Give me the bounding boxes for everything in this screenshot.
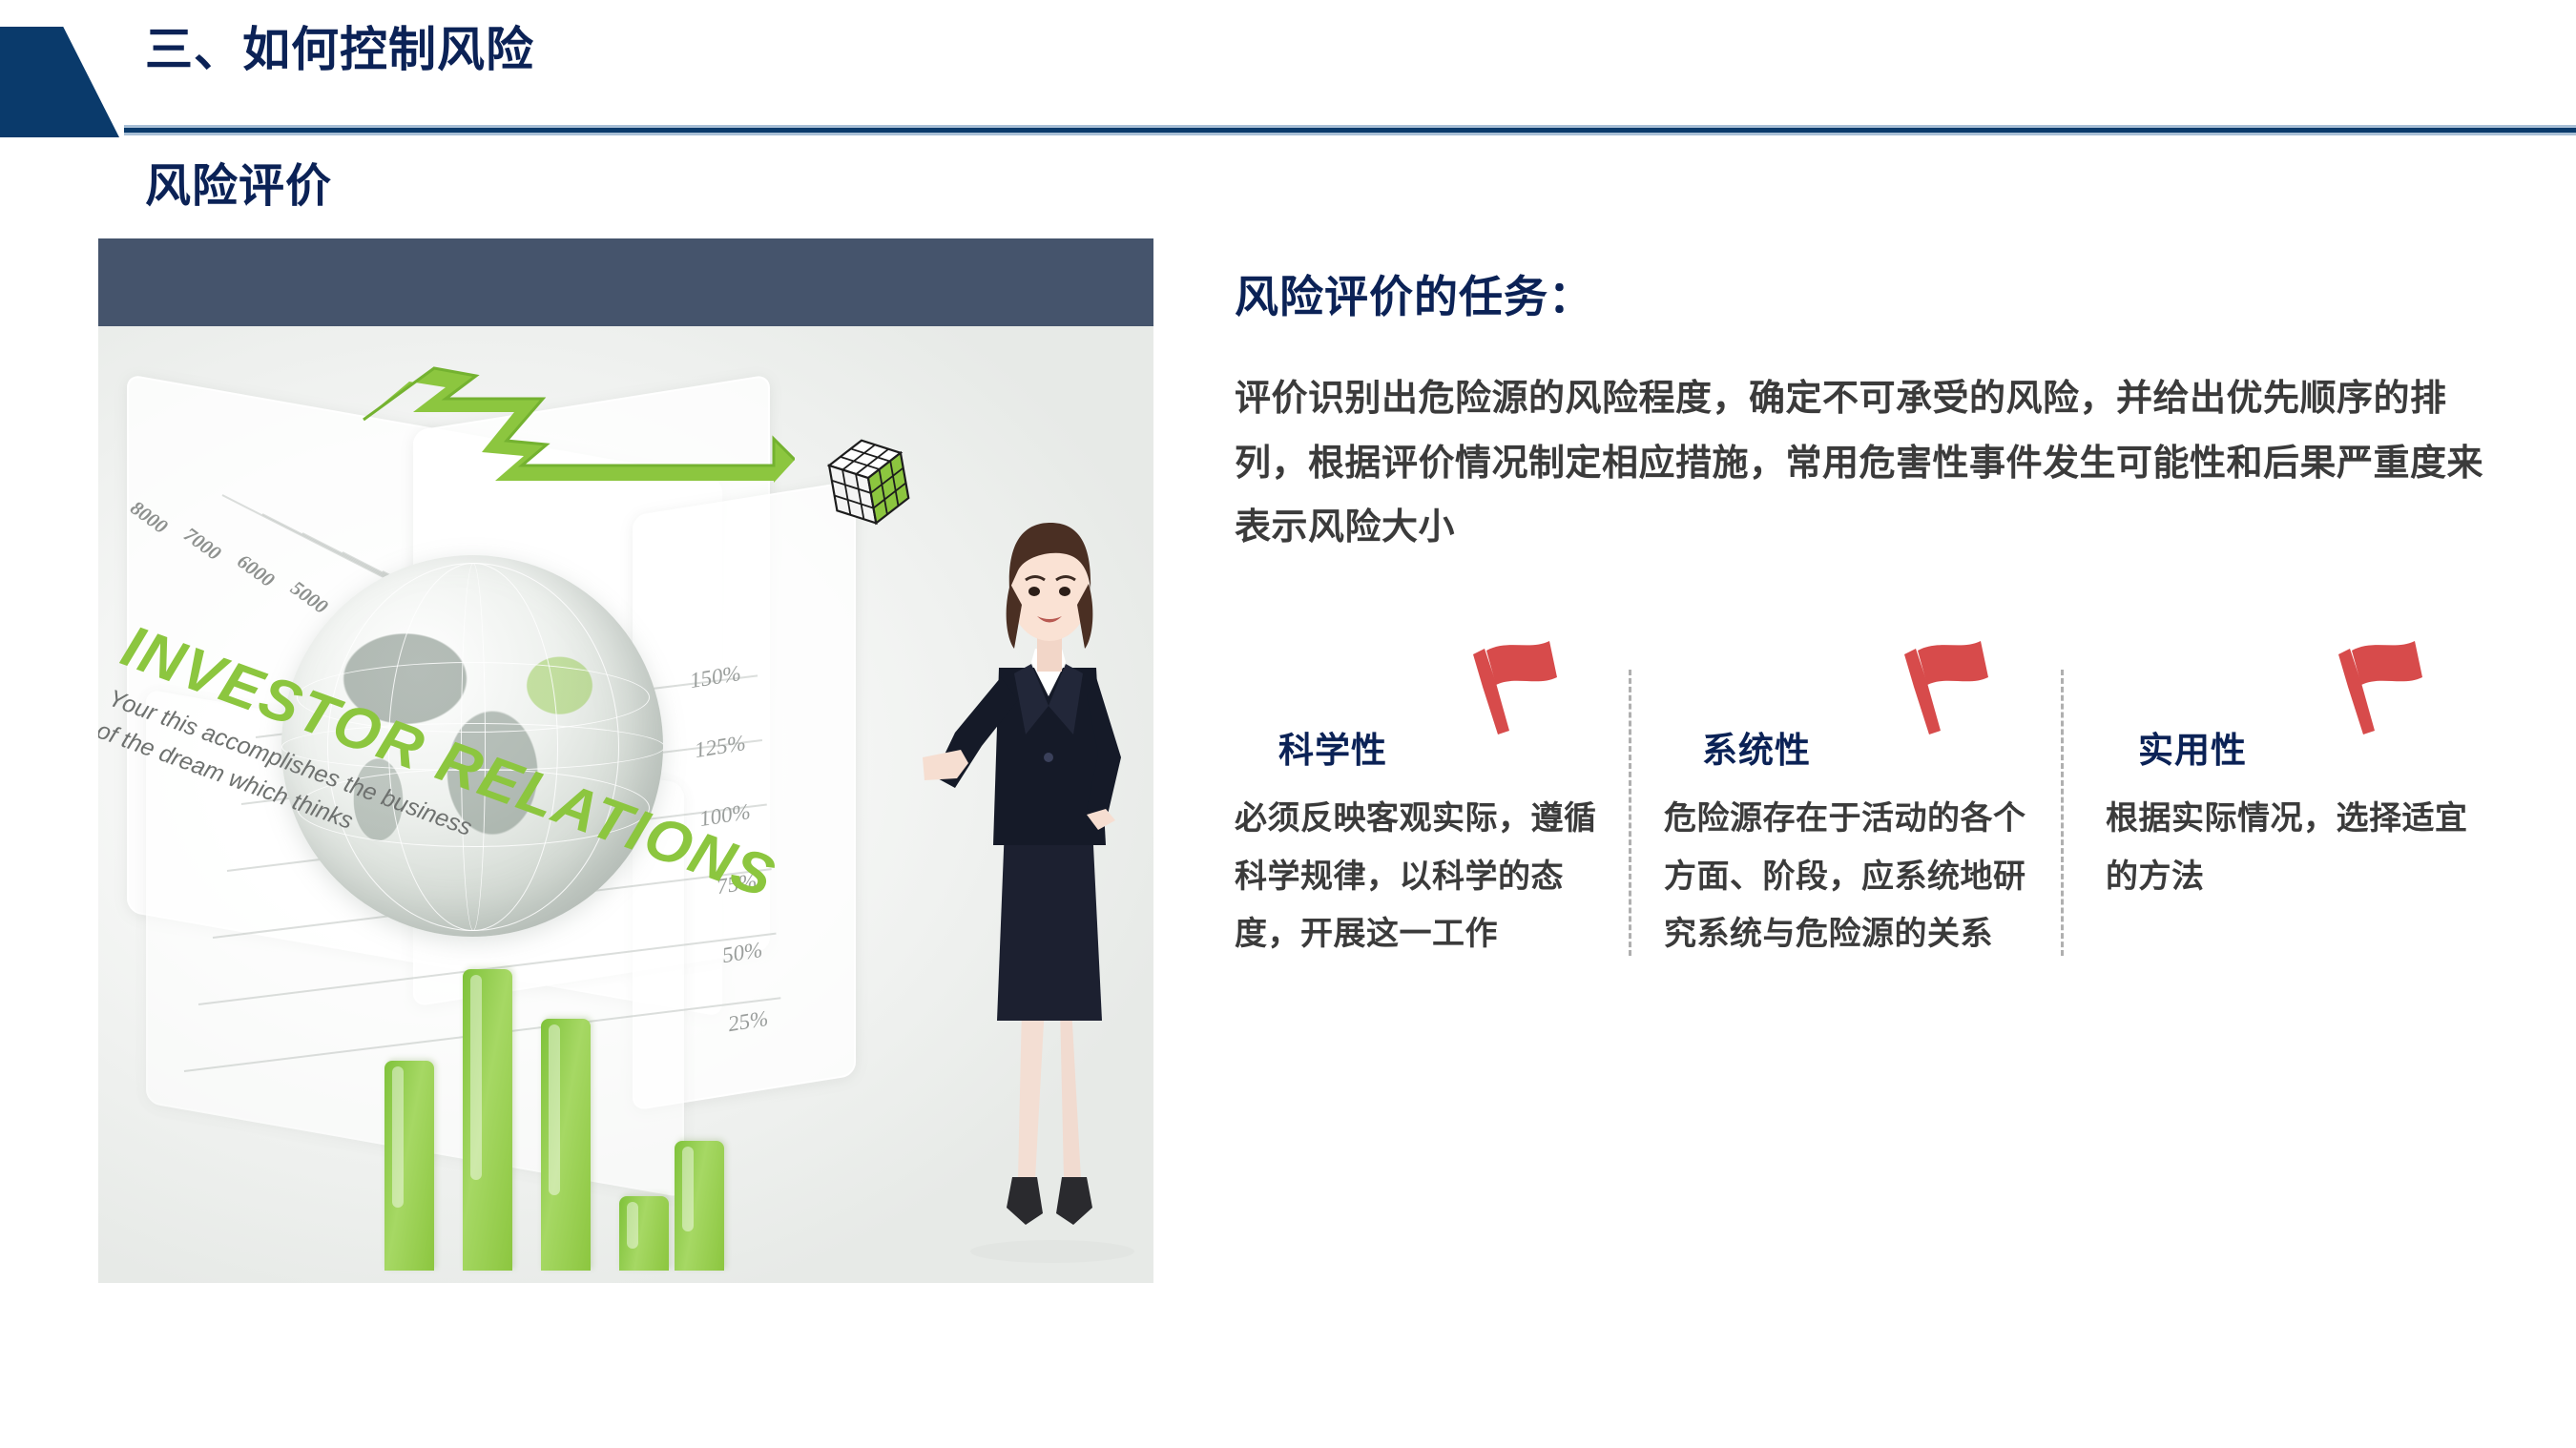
- bar: [463, 969, 512, 1271]
- principles-columns: 科学性 必须反映客观实际，遵循科学规律，以科学的态度，开展这一工作 系统性 危险…: [1235, 630, 2523, 1126]
- bar: [675, 1141, 724, 1271]
- globe-graphic: [281, 555, 663, 937]
- task-paragraph: 评价识别出危险源的风险程度，确定不可承受的风险，并给出优先顺序的排列，根据评价情…: [1235, 367, 2494, 561]
- bar: [541, 1019, 591, 1271]
- task-heading: 风险评价的任务：: [1235, 262, 1593, 325]
- bar: [384, 1061, 434, 1271]
- illustration-top-bar: [98, 238, 1153, 326]
- column-divider-1: [1629, 670, 1631, 956]
- principle-body: 根据实际情况，选择适宜的方法: [2106, 790, 2478, 905]
- illustration-stage: 8000 7000 6000 5000 4000 3000 2000 1000 …: [98, 326, 1153, 1283]
- column-divider-2: [2061, 670, 2064, 956]
- red-flag-icon: [1471, 637, 1559, 742]
- illustration-panel: 8000 7000 6000 5000 4000 3000 2000 1000 …: [98, 238, 1153, 1283]
- page-title: 三、如何控制风险: [145, 21, 534, 78]
- header-divider-rule: [124, 125, 2576, 135]
- principle-body: 危险源存在于活动的各个方面、阶段，应系统地研究系统与危险源的关系: [1664, 790, 2036, 963]
- bar: [619, 1196, 669, 1271]
- principle-body: 必须反映客观实际，遵循科学规律，以科学的态度，开展这一工作: [1235, 790, 1607, 963]
- header-accent-shape: [0, 27, 119, 137]
- growth-arrow-icon: [346, 364, 795, 498]
- principle-title: 科学性: [1278, 721, 1387, 773]
- businesswoman-figure: [919, 471, 1153, 1263]
- rubiks-cube-icon: [818, 429, 921, 538]
- principle-title: 实用性: [2138, 721, 2247, 773]
- page-subtitle: 风险评价: [145, 148, 332, 215]
- principle-title: 系统性: [1702, 721, 1811, 773]
- red-flag-icon: [2337, 637, 2424, 742]
- globe-longitude: [461, 563, 486, 931]
- red-flag-icon: [1902, 637, 1990, 742]
